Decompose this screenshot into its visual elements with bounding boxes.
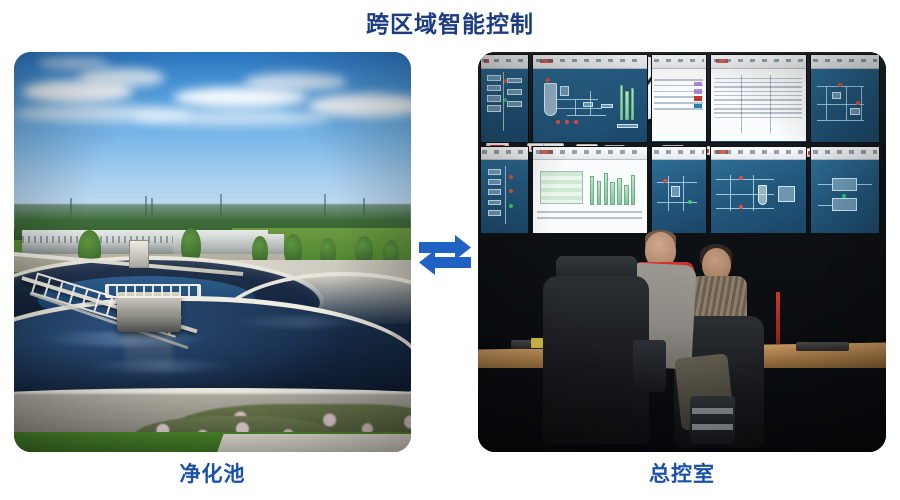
scada-screen [480, 54, 529, 143]
center-drive-mechanism [117, 292, 181, 332]
alarm-indicator [540, 59, 554, 63]
screen-body [711, 69, 807, 142]
keyboard [796, 342, 849, 351]
screen-titlebar [481, 147, 528, 161]
screen-body [481, 160, 528, 233]
screen-titlebar [533, 55, 647, 69]
poster-root: 跨区域智能控制 [0, 0, 900, 500]
screen-titlebar [711, 147, 807, 161]
hmi-block [507, 89, 522, 95]
hmi-block [617, 124, 638, 128]
scada-screen [710, 54, 808, 143]
exchange-arrow-svg [417, 232, 473, 278]
hmi-highlight [694, 89, 703, 93]
bidirectional-exchange-arrow-icon [417, 232, 473, 278]
status-dot-alarm [546, 78, 550, 82]
alarm-indicator [540, 150, 554, 154]
page-title: 跨区域智能控制 [0, 8, 900, 40]
scada-screen [532, 54, 648, 143]
cloud [133, 110, 332, 126]
arrow-right-icon [419, 235, 471, 260]
status-dot-alarm [556, 120, 560, 124]
hmi-pipe [567, 115, 606, 116]
cup [531, 338, 543, 348]
hmi-block [601, 104, 612, 108]
alarm-indicator [716, 59, 727, 63]
hmi-block [507, 101, 522, 107]
scada-screen [480, 146, 529, 235]
hmi-pipe [557, 108, 603, 109]
status-dot-alarm [574, 120, 578, 124]
hmi-block [487, 105, 501, 112]
cloud [173, 87, 308, 108]
screen-body [533, 69, 647, 142]
screen-body [533, 160, 647, 233]
hmi-block [487, 95, 501, 102]
sky [14, 52, 411, 228]
path-curb [217, 434, 411, 452]
hmi-pipe [557, 99, 598, 100]
scada-screen [810, 54, 880, 143]
screen-titlebar [811, 147, 879, 161]
screen-titlebar [711, 55, 807, 69]
hmi-bargraph [631, 88, 634, 120]
boot-strap [692, 424, 733, 430]
scada-screen [651, 54, 707, 143]
caption-right: 总控室 [478, 460, 886, 490]
hmi-line [503, 72, 504, 130]
photo-control-room [478, 52, 886, 452]
arrow-left-icon [419, 250, 471, 275]
screen-body [811, 69, 879, 142]
scada-screen [710, 146, 808, 235]
screen-body [481, 69, 528, 142]
water-sheen [232, 316, 371, 328]
screen-titlebar [533, 147, 647, 161]
screen-titlebar [652, 55, 706, 69]
control-cabinet [129, 240, 149, 268]
hmi-pipe [575, 99, 576, 115]
screen-body [652, 69, 706, 142]
caption-left: 净化池 [14, 460, 411, 490]
cloud [38, 57, 109, 69]
boot-strap [692, 408, 733, 414]
cloud [22, 80, 133, 103]
screen-titlebar [652, 147, 706, 161]
screen-body [711, 160, 807, 233]
desk-lamp-post [776, 292, 780, 344]
scada-screen [651, 146, 707, 235]
screen-titlebar [811, 55, 879, 69]
hmi-table [540, 171, 583, 204]
hmi-block [560, 86, 569, 96]
alarm-indicator [716, 150, 727, 154]
screen-titlebar [481, 55, 528, 69]
hmi-highlight [694, 104, 703, 108]
operator-boot [690, 396, 735, 444]
scada-screen [810, 146, 880, 235]
hmi-bargraph [620, 85, 623, 120]
hmi-highlight [694, 82, 703, 86]
center-platform-rail [105, 284, 200, 298]
hmi-block [507, 78, 522, 84]
hmi-bargraph [625, 91, 628, 120]
hmi-highlight [694, 96, 703, 100]
hmi-block [487, 85, 501, 92]
chair-armrest [633, 340, 666, 392]
status-dot-alarm [565, 120, 569, 124]
hmi-block [583, 102, 593, 106]
alarm-indicator [484, 59, 490, 63]
hmi-tank [544, 83, 557, 116]
screen-body [811, 160, 879, 233]
hmi-block [487, 75, 501, 82]
screen-body [652, 160, 706, 233]
photo-purification-pond [14, 52, 411, 452]
scada-screen [532, 146, 648, 235]
